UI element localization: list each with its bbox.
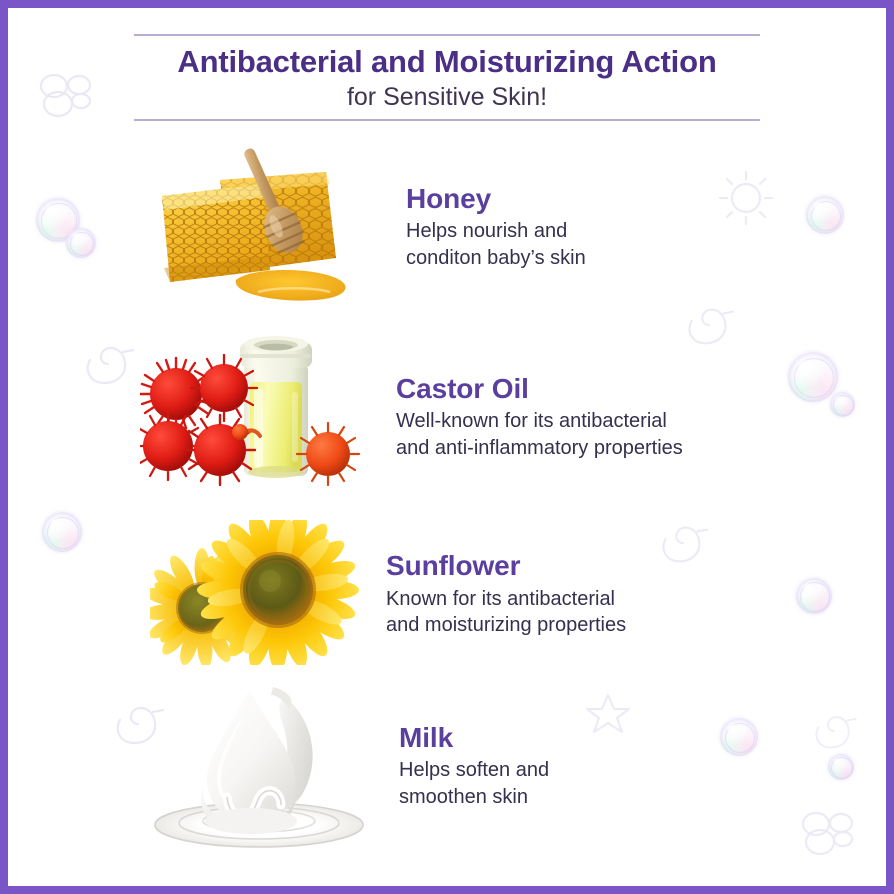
- ingredient-row-honey: Honey Helps nourish and conditon baby’s …: [140, 140, 586, 315]
- ingredient-description: Helps soften and smoothen skin: [399, 757, 549, 810]
- honeycomb-image: [140, 140, 372, 315]
- ingredient-copy-castor-oil: Castor Oil Well-known for its antibacter…: [396, 374, 683, 461]
- desc-line-2: smoothen skin: [399, 786, 528, 808]
- soap-bubble: [42, 512, 82, 552]
- ingredient-description: Well-known for its antibacterial and ant…: [396, 408, 683, 461]
- sunflower-image: [150, 520, 362, 670]
- ingredient-row-sunflower: Sunflower Known for its antibacterial an…: [150, 520, 626, 670]
- ingredient-row-castor-oil: Castor Oil Well-known for its antibacter…: [140, 330, 683, 505]
- soap-bubble: [806, 196, 844, 234]
- soap-bubble: [830, 392, 855, 417]
- castor-oil-image: [140, 330, 372, 505]
- header-divider-bottom: [134, 119, 760, 121]
- infographic-poster: Antibacterial and Moisturizing Action fo…: [0, 0, 894, 894]
- ingredient-row-milk: Milk Helps soften and smoothen skin: [145, 675, 549, 858]
- ingredient-name: Castor Oil: [396, 374, 683, 403]
- ingredient-copy-honey: Honey Helps nourish and conditon baby’s …: [406, 184, 586, 271]
- poster-header: Antibacterial and Moisturizing Action fo…: [0, 34, 894, 121]
- desc-line-2: conditon baby’s skin: [406, 247, 586, 269]
- soap-bubble: [828, 754, 854, 780]
- ingredient-name: Sunflower: [386, 551, 626, 580]
- page-title: Antibacterial and Moisturizing Action: [0, 45, 894, 80]
- soap-bubble: [66, 228, 96, 258]
- header-divider-top: [134, 34, 760, 36]
- soap-bubble: [796, 578, 832, 614]
- desc-line-1: Well-known for its antibacterial: [396, 410, 667, 432]
- ingredient-name: Milk: [399, 723, 549, 752]
- milk-splash-image: [145, 675, 373, 858]
- ingredient-copy-sunflower: Sunflower Known for its antibacterial an…: [386, 551, 626, 638]
- soap-bubble: [720, 718, 758, 756]
- ingredient-description: Helps nourish and conditon baby’s skin: [406, 218, 586, 271]
- desc-line-1: Helps nourish and: [406, 220, 567, 242]
- ingredient-name: Honey: [406, 184, 586, 213]
- page-subtitle: for Sensitive Skin!: [0, 82, 894, 112]
- ingredient-description: Known for its antibacterial and moisturi…: [386, 586, 626, 639]
- desc-line-1: Known for its antibacterial: [386, 588, 615, 610]
- soap-bubble: [788, 352, 838, 402]
- desc-line-2: and anti-inflammatory properties: [396, 437, 683, 459]
- ingredient-copy-milk: Milk Helps soften and smoothen skin: [399, 723, 549, 810]
- desc-line-1: Helps soften and: [399, 759, 549, 781]
- desc-line-2: and moisturizing properties: [386, 614, 626, 636]
